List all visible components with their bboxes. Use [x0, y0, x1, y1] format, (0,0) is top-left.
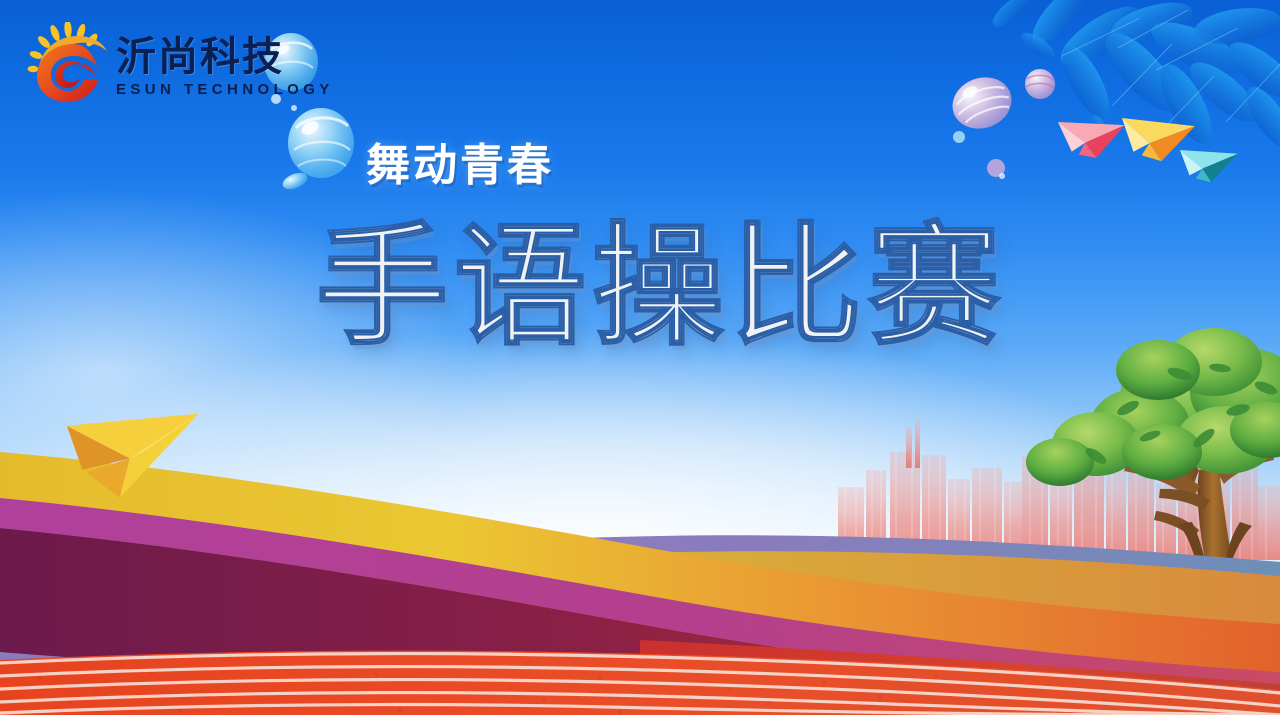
poster-subtitle: 舞动青春: [366, 129, 554, 193]
brand-name-en: ESUN TECHNOLOGY: [116, 82, 334, 97]
brand-name-cn: 沂尚科技: [116, 37, 334, 77]
swirl-inner: [55, 61, 81, 88]
bubble-droplet-b: [291, 105, 297, 111]
leaf-cluster-blue: [988, 0, 1280, 156]
band-maroon: [0, 528, 1280, 715]
band-yellow: [0, 452, 1280, 676]
bubble-white-tiny: [999, 173, 1005, 179]
band-violet-low: [0, 652, 560, 715]
city-skyline: [838, 420, 1280, 562]
bubble-pink-small: [1025, 69, 1055, 99]
running-track: [0, 651, 1280, 715]
paper-plane-gold-large: [60, 400, 199, 505]
paper-plane-teal: [1180, 142, 1241, 186]
esun-swirl-sun-logo: [24, 22, 110, 104]
paper-plane-pink: [1058, 111, 1129, 164]
color-bands: [0, 452, 1280, 715]
band-red: [640, 640, 1280, 715]
band-violet: [0, 535, 1280, 634]
bubble-pink-large: [945, 69, 1018, 137]
bubble-cyan-tiny: [953, 131, 965, 143]
paper-plane-yellow: [1122, 111, 1198, 165]
tree-green: [1026, 328, 1280, 560]
poster-canvas: 沂尚科技 ESUN TECHNOLOGY 舞动青春 手语操比赛: [0, 0, 1280, 715]
poster-main-title: 手语操比赛: [316, 218, 1006, 357]
band-field-yellow: [0, 551, 1280, 690]
brand-logo[interactable]: 沂尚科技 ESUN TECHNOLOGY: [24, 22, 334, 104]
brand-text: 沂尚科技 ESUN TECHNOLOGY: [116, 29, 334, 97]
band-magenta: [0, 498, 1280, 700]
bubble-cyan-large: [288, 108, 354, 178]
bubble-cyan-small: [280, 170, 309, 193]
bubble-pink-tiny: [987, 159, 1005, 177]
